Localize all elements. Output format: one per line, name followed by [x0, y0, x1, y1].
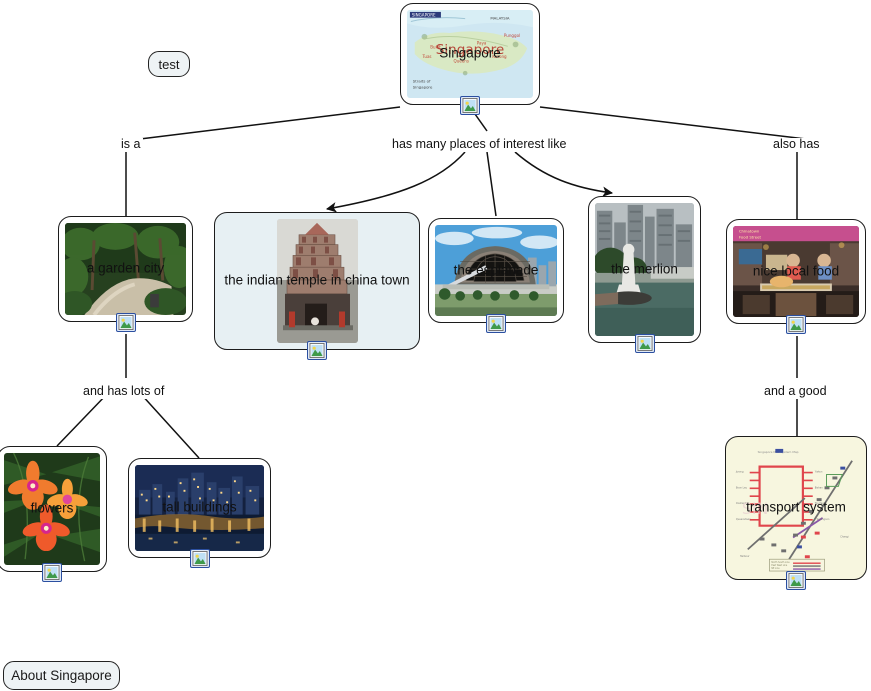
map-title-node[interactable]: About Singapore: [3, 661, 120, 690]
edge-singapore-also-has: [540, 107, 806, 139]
svg-text:SINGAPORE: SINGAPORE: [412, 13, 436, 18]
edge-singapore-is-a: [140, 107, 400, 139]
edge-places-temple: [327, 152, 465, 209]
photo-temple-image: [277, 219, 358, 343]
svg-text:Chinatown: Chinatown: [739, 229, 760, 234]
svg-text:NE Line: NE Line: [771, 567, 780, 570]
concept-label-test: test: [159, 57, 180, 72]
svg-text:Serangoon: Serangoon: [817, 518, 830, 521]
concept-node-test[interactable]: test: [148, 51, 190, 77]
image-resource-badge[interactable]: [460, 96, 480, 115]
image-resource-badge[interactable]: [786, 571, 806, 590]
photo-garden-image: a garden city: [65, 223, 186, 315]
concept-node-singapore[interactable]: BukitPaya QueensKatong PunggolTuas MALAY…: [400, 3, 540, 105]
svg-text:Queens: Queens: [454, 59, 469, 64]
map-title-label: About Singapore: [11, 668, 112, 683]
image-resource-badge[interactable]: [486, 314, 506, 333]
image-resource-badge[interactable]: [190, 549, 210, 568]
edge-places-esplanade: [487, 152, 496, 216]
photo-food-image: ChinatownFood Street: [733, 226, 859, 317]
image-resource-badge[interactable]: [42, 563, 62, 582]
svg-text:Singapore: Singapore: [413, 84, 433, 89]
photo-orchid-image: flowers: [4, 453, 100, 565]
photo-merlion-image: the merlion: [595, 203, 694, 336]
svg-text:SIN: SIN: [742, 499, 768, 518]
concept-node-indian-temple[interactable]: the indian temple in china town: [214, 212, 420, 350]
svg-text:Queenstown: Queenstown: [736, 518, 751, 521]
link-label-also-has[interactable]: also has: [770, 138, 823, 152]
svg-text:Tuas: Tuas: [422, 54, 432, 59]
photo-skyline-image: tall buildings: [135, 465, 264, 551]
svg-text:Bishan: Bishan: [815, 486, 823, 489]
svg-text:Straits of: Straits of: [413, 79, 431, 84]
map-singapore-image: BukitPaya QueensKatong PunggolTuas MALAY…: [407, 10, 533, 98]
concept-node-tall-buildings[interactable]: tall buildings: [128, 458, 271, 558]
edge-lots-of-buildings: [140, 393, 199, 458]
svg-text:Food Street: Food Street: [739, 234, 762, 239]
image-resource-badge[interactable]: [307, 341, 327, 360]
concept-node-esplanade[interactable]: the esplanade: [428, 218, 564, 323]
concept-node-transport-system[interactable]: Singapore MRT System Map: [725, 436, 867, 580]
svg-text:Singapore: Singapore: [436, 42, 504, 58]
edge-places-merlion: [515, 152, 612, 193]
svg-text:Harbour: Harbour: [740, 555, 750, 558]
concept-node-local-food[interactable]: ChinatownFood Street: [726, 219, 866, 324]
link-label-and-a-good[interactable]: and a good: [761, 385, 830, 399]
edge-lots-of-flowers: [57, 393, 108, 446]
svg-text:Yishun: Yishun: [815, 471, 823, 474]
link-label-places-of-interest[interactable]: has many places of interest like: [389, 138, 569, 152]
link-label-is-a[interactable]: is a: [118, 138, 143, 152]
svg-text:Punggol: Punggol: [504, 33, 520, 38]
svg-text:Changi: Changi: [840, 536, 849, 539]
concept-node-merlion[interactable]: the merlion: [588, 196, 701, 343]
link-label-and-has-lots-of[interactable]: and has lots of: [80, 385, 167, 399]
svg-text:Toa Payoh: Toa Payoh: [815, 502, 827, 505]
svg-text:Boon Lay: Boon Lay: [736, 486, 748, 489]
image-resource-badge[interactable]: [635, 334, 655, 353]
image-resource-badge[interactable]: [116, 313, 136, 332]
photo-esplanade-image: the esplanade: [435, 225, 557, 316]
concept-node-garden-city[interactable]: a garden city: [58, 216, 193, 322]
svg-text:Jurong: Jurong: [735, 471, 744, 474]
image-resource-badge[interactable]: [786, 315, 806, 334]
concept-map-canvas[interactable]: is a has many places of interest like al…: [0, 0, 871, 691]
svg-text:MALAYSIA: MALAYSIA: [490, 16, 510, 21]
map-mrt-image: Singapore MRT System Map: [732, 443, 860, 573]
concept-node-flowers[interactable]: flowers: [0, 446, 107, 572]
